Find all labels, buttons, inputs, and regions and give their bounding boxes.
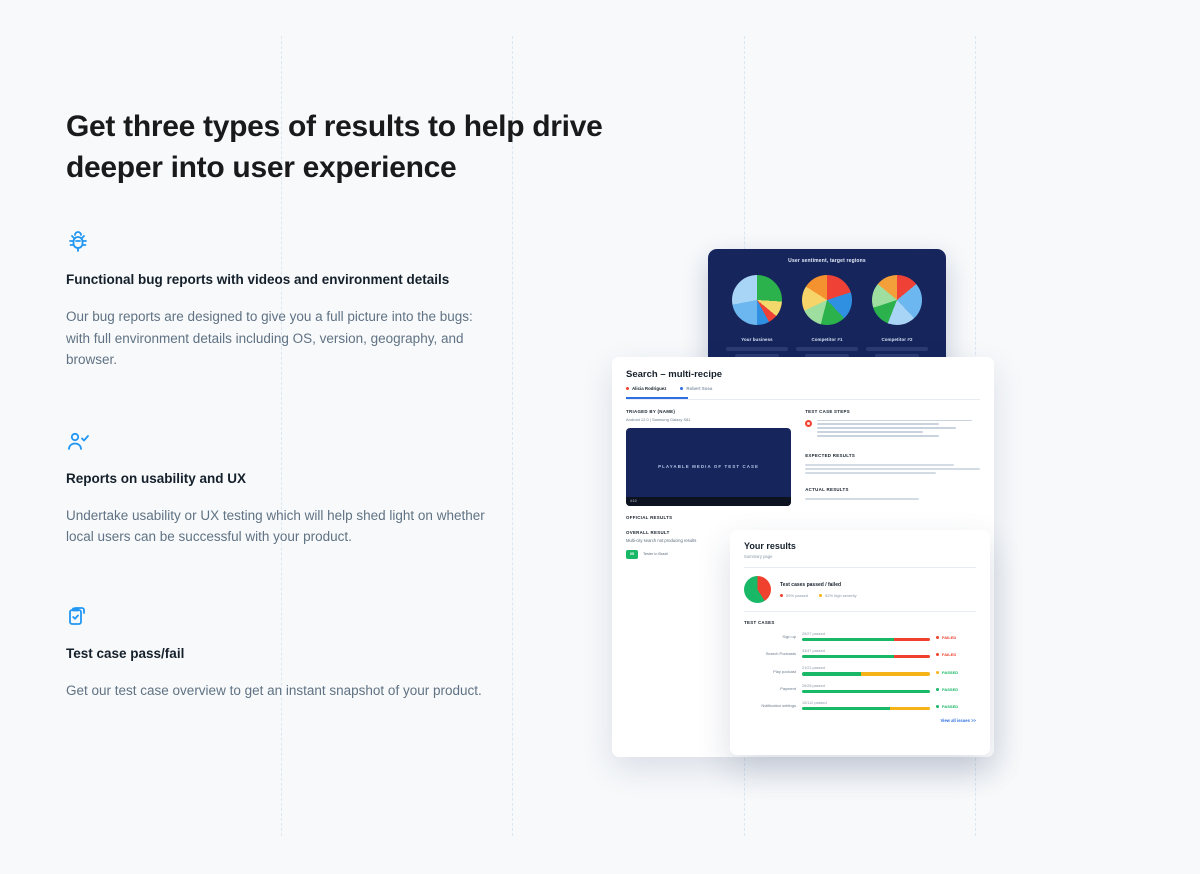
status-dot-icon [936,653,939,656]
progress-passed [802,655,894,658]
text-line [817,427,955,429]
report-right-column: TEST CASE STEPS EXPECTED RESULTS [805,409,980,520]
feature-title: Functional bug reports with videos and e… [66,271,646,289]
progress-warning [890,707,930,710]
progress-track [802,690,930,693]
progress-track [802,672,930,675]
expected-results-heading: EXPECTED RESULTS [805,453,980,458]
text-line [817,423,939,425]
feature-body: Undertake usability or UX testing which … [66,505,491,548]
meta-bar [726,347,788,351]
results-subtitle: Summary page [744,554,976,559]
report-title: Search – multi-recipe [626,369,980,380]
text-line [805,464,954,466]
table-row: Sign up 25/27 passed FAILED [744,632,976,641]
row-count: 26/28 passed [802,684,930,688]
text-line [805,468,980,470]
feature-item-bug-reports: Functional bug reports with videos and e… [66,230,646,371]
results-summary: Test cases passed / failed 59% passed 52… [744,576,976,603]
row-progress: 33/47 passed [802,649,930,658]
analytics-card-title: User sentiment, target regions [708,258,946,264]
feature-item-usability: Reports on usability and UX Undertake us… [66,429,646,548]
meta-bar [866,347,928,351]
test-case-steps-heading: TEST CASE STEPS [805,409,980,414]
tab-alicia-rodriguez[interactable]: Alicia Rodriguez [626,386,666,391]
row-progress: 26/28 passed [802,684,930,693]
progress-passed [802,672,861,675]
video-timestamp: 4:10 [630,499,637,503]
legend-swatch [819,594,822,597]
report-header: Search – multi-recipe Alicia Rodriguez R… [612,357,994,400]
table-row: Notification settings 15/112 passed PASS… [744,701,976,710]
progress-track [802,638,930,641]
row-label: Search Podcasts [744,651,796,658]
pie-chart-competitor-1: Competitor #1 [796,275,858,361]
text-line [817,420,972,422]
video-controls[interactable]: 4:10 [626,497,791,506]
row-count: 21/21 passed [802,666,930,670]
status-dot-icon [626,387,629,390]
progress-passed [802,638,894,641]
text-line [805,472,936,474]
view-all-issues-link[interactable]: View all issues >> [744,718,976,723]
feature-title: Reports on usability and UX [66,470,646,488]
status-dot-icon [936,636,939,639]
pie-label: Competitor #1 [796,337,858,342]
table-row: Payment 26/28 passed PASSED [744,684,976,693]
report-tabs: Alicia Rodriguez Robert Sosa [626,386,980,396]
bug-icon [66,230,90,254]
status-label: PASSED [942,687,958,692]
text-line [805,498,919,500]
meta-bar [796,347,858,351]
feature-body: Get our test case overview to get an ins… [66,680,491,702]
row-progress: 21/21 passed [802,666,930,675]
row-progress: 15/112 passed [802,701,930,710]
status-label: PASSED [942,670,958,675]
tester-info: 05 Tester in Brazil [626,550,668,559]
progress-warning [861,672,930,675]
pie-chart [872,275,922,325]
feature-body: Our bug reports are designed to give you… [66,306,492,371]
test-cases-heading: TEST CASES [744,620,976,625]
video-player[interactable]: PLAYABLE MEDIA OF TEST CASE 4:10 [626,428,791,506]
row-label: Play podcast [744,669,796,676]
progress-track [802,655,930,658]
status-dot-icon [936,705,939,708]
table-row: Search Podcasts 33/47 passed FAILED [744,649,976,658]
row-status: PASSED [936,704,976,710]
pie-chart-competitor-2: Competitor #2 [866,275,928,361]
text-line [817,431,923,433]
status-label: PASSED [942,704,958,709]
progress-failed [894,638,930,641]
progress-track [802,707,930,710]
summary-title: Test cases passed / failed [780,582,857,588]
row-status: PASSED [936,687,976,693]
actual-results-section: ACTUAL RESULTS [805,487,980,500]
status-dot-icon [680,387,683,390]
legend-label: 52% high severity [825,593,857,598]
official-results-section: OFFICIAL RESULTS [626,515,791,520]
actual-results-heading: ACTUAL RESULTS [805,487,980,492]
legend-label: 59% passed [786,593,808,598]
summary-text: Test cases passed / failed 59% passed 52… [780,582,857,598]
text-line [817,435,939,437]
user-check-icon [66,429,90,453]
legend-item-severity: 52% high severity [819,593,857,598]
pie-label: Competitor #2 [866,337,928,342]
row-label: Notification settings [744,703,796,710]
expected-results-section: EXPECTED RESULTS [805,453,980,474]
legend-item-passed: 59% passed [780,593,808,598]
status-label: FAILED [942,652,956,657]
feature-item-test-case: Test case pass/fail Get our test case ov… [66,604,646,702]
row-label: Payment [744,686,796,693]
results-card: Your results Summary page Test cases pas… [730,530,990,755]
actual-results-lines [805,498,980,500]
step-marker-icon [805,420,812,427]
page-root: Get three types of results to help drive… [0,0,1200,874]
progress-failed [894,655,930,658]
device-info: Android 12.0 | Samsung Galaxy S81 [626,417,791,422]
row-status: FAILED [936,652,976,658]
tester-label: Tester in Brazil [643,552,668,556]
status-dot-icon [936,688,939,691]
row-status: PASSED [936,670,976,676]
test-case-steps [805,420,980,440]
row-count: 15/112 passed [802,701,930,705]
row-progress: 25/27 passed [802,632,930,641]
row-count: 33/47 passed [802,649,930,653]
status-label: FAILED [942,635,956,640]
legend-swatch [780,594,783,597]
results-title: Your results [744,541,976,551]
tester-badge: 05 [626,550,638,559]
content-column: Get three types of results to help drive… [66,106,646,701]
pie-label: Your business [726,337,788,342]
divider [744,611,976,612]
pie-chart [802,275,852,325]
page-title: Get three types of results to help drive… [66,106,646,188]
clipboard-check-icon [66,604,90,628]
table-row: Play podcast 21/21 passed PASSED [744,666,976,675]
pie-chart [732,275,782,325]
row-status: FAILED [936,635,976,641]
expected-results-lines [805,464,980,474]
tab-robert-sosa[interactable]: Robert Sosa [680,386,712,391]
report-left-column: TRIAGED BY (NAME) Android 12.0 | Samsung… [626,409,791,520]
video-placeholder-label: PLAYABLE MEDIA OF TEST CASE [626,428,791,506]
pie-chart-row: Your business Competitor #1 [708,275,946,361]
row-count: 25/27 passed [802,632,930,636]
step-text-lines [817,420,980,440]
triaged-heading: TRIAGED BY (NAME) [626,409,791,414]
feature-title: Test case pass/fail [66,645,646,663]
divider [744,567,976,568]
tab-label: Alicia Rodriguez [632,386,666,391]
donut-chart [744,576,771,603]
progress-passed [802,707,890,710]
row-label: Sign up [744,634,796,641]
official-results-heading: OFFICIAL RESULTS [626,515,791,520]
tab-label: Robert Sosa [686,386,712,391]
status-dot-icon [936,671,939,674]
summary-legend: 59% passed 52% high severity [780,593,857,598]
progress-passed [802,690,930,693]
report-body: TRIAGED BY (NAME) Android 12.0 | Samsung… [612,400,994,520]
product-screenshot-composition: User sentiment, target regions Your busi… [605,240,1005,760]
pie-chart-your-business: Your business [726,275,788,361]
